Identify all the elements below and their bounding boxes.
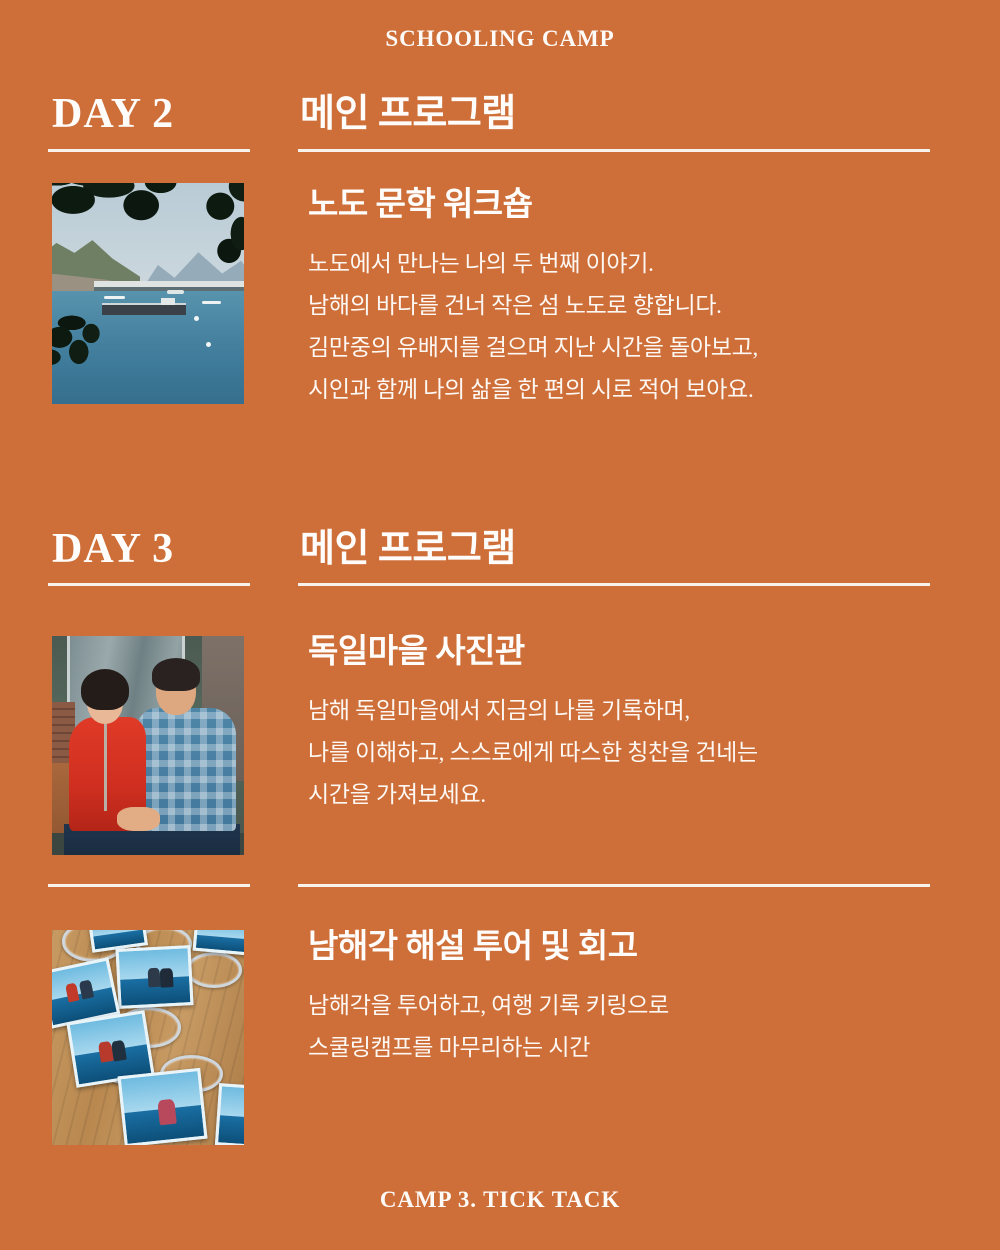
poster-page: SCHOOLING CAMP DAY 2 메인 프로그램 — [0, 0, 1000, 1250]
photo-inner — [52, 183, 244, 404]
day-program-label-3: 메인 프로그램 — [300, 521, 516, 577]
photo-keychain — [118, 1068, 208, 1145]
buoy-far — [194, 316, 199, 321]
barge-cabin — [161, 298, 174, 305]
session-line: 남해의 바다를 건너 작은 섬 노도로 향합니다. — [308, 285, 948, 327]
session-title-namhaegak: 남해각 해설 투어 및 회고 — [308, 925, 948, 969]
photo-inner — [52, 636, 244, 855]
boat-right — [202, 301, 221, 304]
session-body-namhaegak: 남해각을 투어하고, 여행 기록 키링으로 스쿨링캠프를 마무리하는 시간 — [308, 985, 948, 1069]
session-title-german-village: 독일마을 사진관 — [308, 630, 948, 674]
session-block-noodo: 노도 문학 워크숍 노도에서 만나는 나의 두 번째 이야기. 남해의 바다를 … — [308, 183, 948, 411]
tree-branch-right — [171, 183, 244, 298]
tree-branch-left — [52, 311, 121, 377]
keychain-photo-sea — [196, 935, 244, 953]
session-line: 시인과 함께 나의 삶을 한 편의 시로 적어 보아요. — [308, 369, 948, 411]
divider-left-day3 — [48, 583, 250, 586]
divider-left-day2 — [48, 149, 250, 152]
divider-right-session — [298, 884, 930, 887]
session-block-german-village: 독일마을 사진관 남해 독일마을에서 지금의 나를 기록하며, 나를 이해하고,… — [308, 630, 948, 816]
keychain-figure — [157, 1098, 176, 1125]
divider-left-session — [48, 884, 250, 887]
session-line: 김만중의 유배지를 걸으며 지난 시간을 돌아보고, — [308, 327, 948, 369]
woman-hair — [81, 669, 129, 711]
session-line: 시간을 가져보세요. — [308, 774, 948, 816]
keychain-photo-sea — [218, 1115, 244, 1145]
jacket-zipper — [104, 724, 107, 812]
session-photo-german-village-couple — [52, 636, 244, 855]
session-photo-noodo-seascape — [52, 183, 244, 404]
day-label-2: DAY 2 — [52, 86, 252, 142]
photo-inner — [52, 930, 244, 1145]
session-title-noodo: 노도 문학 워크숍 — [308, 183, 948, 227]
day-heading-row-2: DAY 2 메인 프로그램 — [0, 86, 1000, 156]
divider-right-day2 — [298, 149, 930, 152]
session-line: 나를 이해하고, 스스로에게 따스한 칭찬을 건네는 — [308, 732, 948, 774]
man-hair — [152, 658, 200, 691]
boat-left — [104, 296, 125, 299]
photo-keychain — [215, 1083, 244, 1145]
session-body-german-village: 남해 독일마을에서 지금의 나를 기록하며, 나를 이해하고, 스스로에게 따스… — [308, 690, 948, 816]
session-photo-photo-keyrings — [52, 930, 244, 1145]
held-hands — [117, 807, 159, 831]
session-line: 남해각을 투어하고, 여행 기록 키링으로 — [308, 985, 948, 1027]
buoy-near — [206, 342, 211, 347]
keychain-figure — [160, 969, 173, 988]
day-label-3: DAY 3 — [52, 521, 252, 577]
session-block-namhaegak: 남해각 해설 투어 및 회고 남해각을 투어하고, 여행 기록 키링으로 스쿨링… — [308, 925, 948, 1069]
keychain-figure — [147, 968, 160, 987]
session-body-noodo: 노도에서 만나는 나의 두 번째 이야기. 남해의 바다를 건너 작은 섬 노도… — [308, 243, 948, 411]
photo-keychain — [116, 945, 194, 1009]
keychain-photo-sky — [220, 1086, 244, 1118]
divider-right-day3 — [298, 583, 930, 586]
key-ring — [186, 952, 242, 988]
day-heading-row-3: DAY 3 메인 프로그램 — [0, 521, 1000, 591]
day-program-label-2: 메인 프로그램 — [300, 86, 516, 142]
session-line: 노도에서 만나는 나의 두 번째 이야기. — [308, 243, 948, 285]
brand-footer: CAMP 3. TICK TACK — [0, 1187, 1000, 1213]
session-line: 남해 독일마을에서 지금의 나를 기록하며, — [308, 690, 948, 732]
brand-header: SCHOOLING CAMP — [0, 26, 1000, 52]
session-line: 스쿨링캠프를 마무리하는 시간 — [308, 1027, 948, 1069]
